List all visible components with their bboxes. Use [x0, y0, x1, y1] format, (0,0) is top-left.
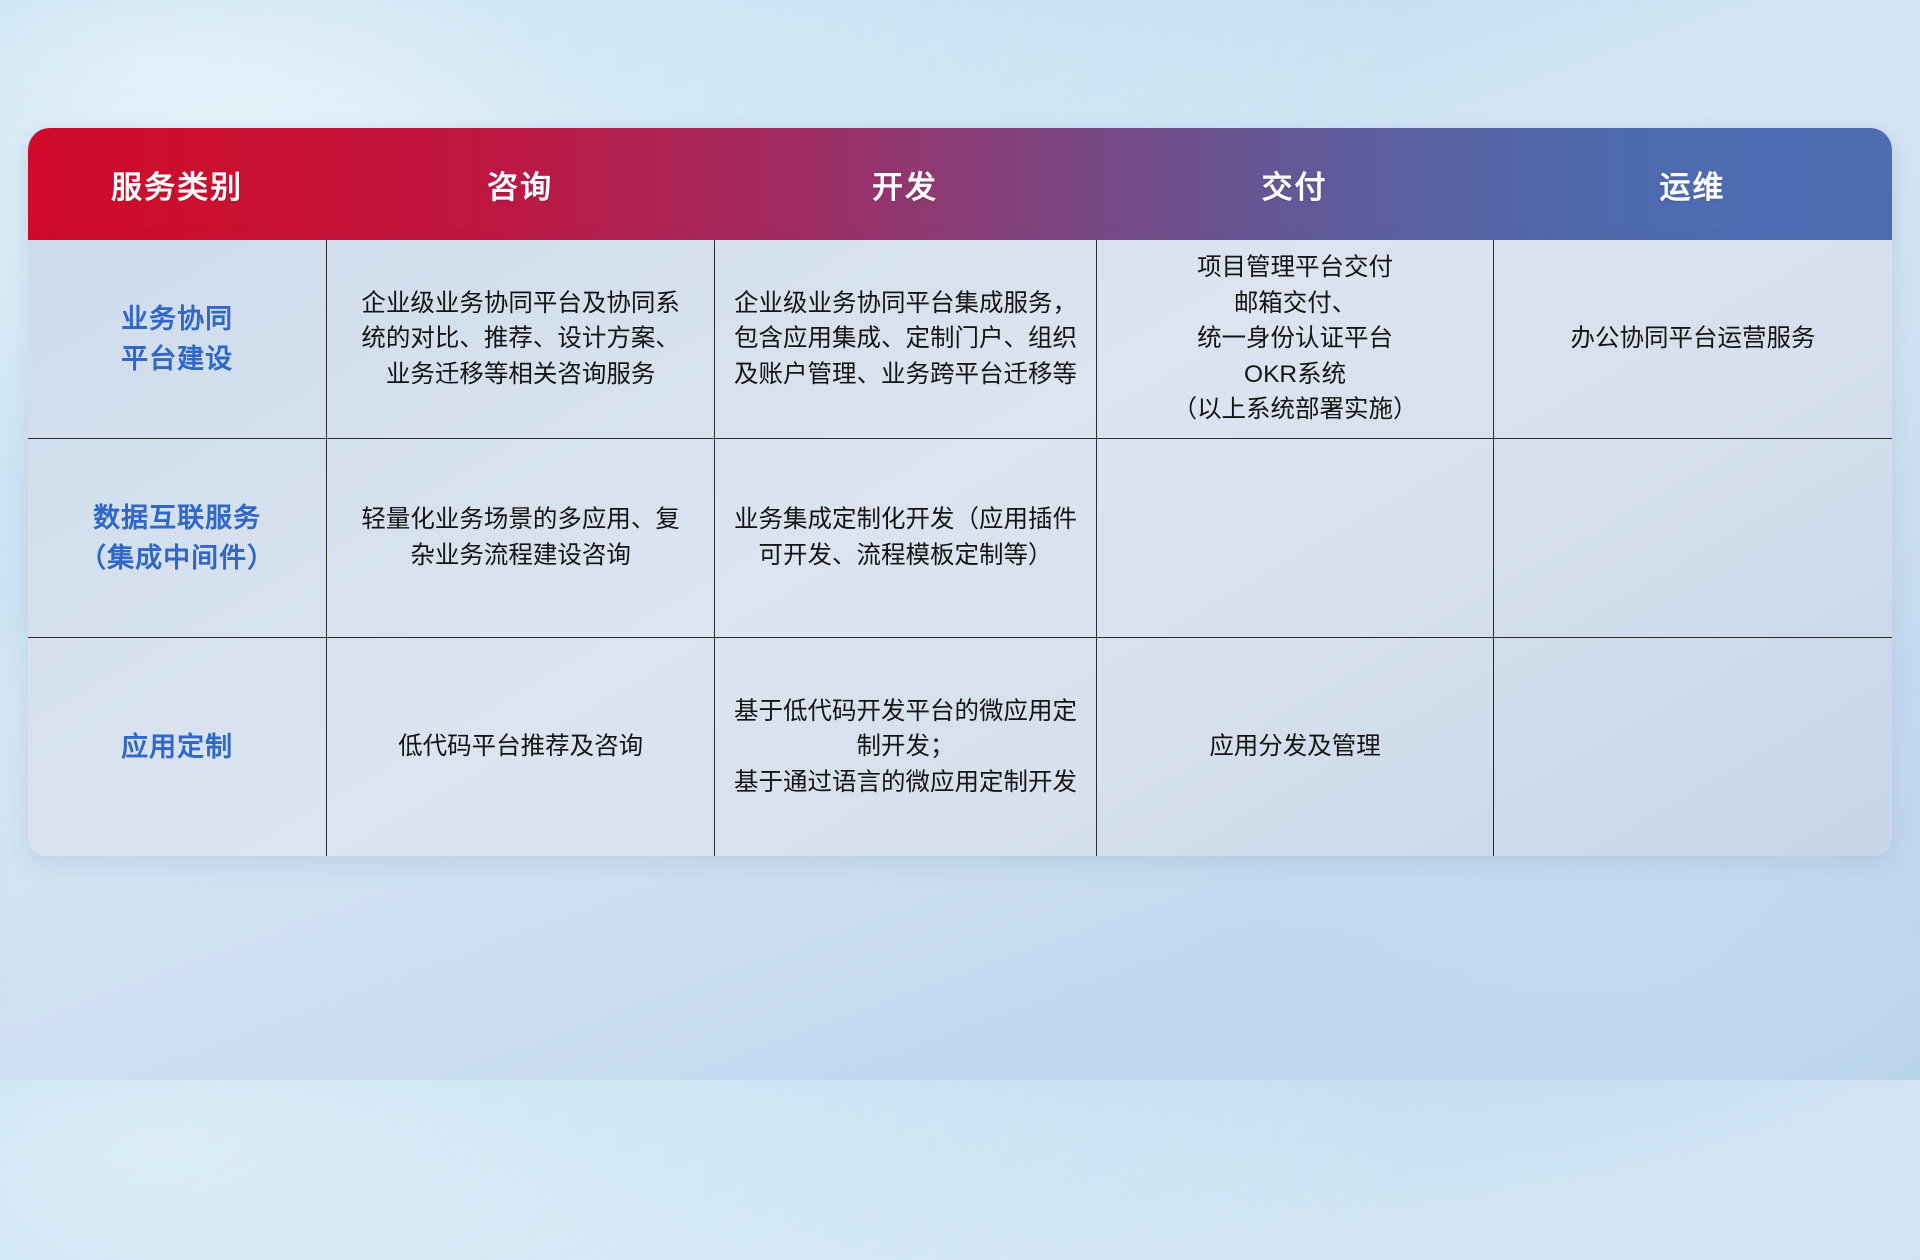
cell-development: 企业级业务协同平台集成服务， 包含应用集成、定制门户、组织 及账户管理、业务跨平…	[714, 240, 1096, 438]
row-category-label: 业务协同 平台建设	[28, 240, 326, 438]
table-header-row: 服务类别 咨询 开发 交付 运维	[28, 128, 1892, 240]
table-row: 业务协同 平台建设 企业级业务协同平台及协同系 统的对比、推荐、设计方案、 业务…	[28, 240, 1892, 438]
row-category-label: 数据互联服务 （集成中间件）	[28, 439, 326, 637]
row-category-label: 应用定制	[28, 638, 326, 856]
cell-operations	[1493, 439, 1892, 637]
header-development: 开发	[714, 128, 1096, 240]
table-row: 应用定制 低代码平台推荐及咨询 基于低代码开发平台的微应用定 制开发； 基于通过…	[28, 637, 1892, 856]
cell-delivery	[1096, 439, 1493, 637]
header-consulting: 咨询	[326, 128, 714, 240]
cell-consulting: 轻量化业务场景的多应用、复 杂业务流程建设咨询	[326, 439, 714, 637]
cell-development: 基于低代码开发平台的微应用定 制开发； 基于通过语言的微应用定制开发	[714, 638, 1096, 856]
header-delivery: 交付	[1096, 128, 1493, 240]
cell-consulting: 企业级业务协同平台及协同系 统的对比、推荐、设计方案、 业务迁移等相关咨询服务	[326, 240, 714, 438]
cell-operations	[1493, 638, 1892, 856]
cell-delivery: 项目管理平台交付 邮箱交付、 统一身份认证平台 OKR系统 （以上系统部署实施）	[1096, 240, 1493, 438]
cell-consulting: 低代码平台推荐及咨询	[326, 638, 714, 856]
table-body: 业务协同 平台建设 企业级业务协同平台及协同系 统的对比、推荐、设计方案、 业务…	[28, 240, 1892, 856]
cell-delivery: 应用分发及管理	[1096, 638, 1493, 856]
service-matrix-table: 服务类别 咨询 开发 交付 运维 业务协同 平台建设 企业级业务协同平台及协同系…	[28, 128, 1892, 856]
header-operations: 运维	[1493, 128, 1892, 240]
table-row: 数据互联服务 （集成中间件） 轻量化业务场景的多应用、复 杂业务流程建设咨询 业…	[28, 438, 1892, 637]
cell-operations: 办公协同平台运营服务	[1493, 240, 1892, 438]
cell-development: 业务集成定制化开发（应用插件 可开发、流程模板定制等）	[714, 439, 1096, 637]
header-service-category: 服务类别	[28, 128, 326, 240]
